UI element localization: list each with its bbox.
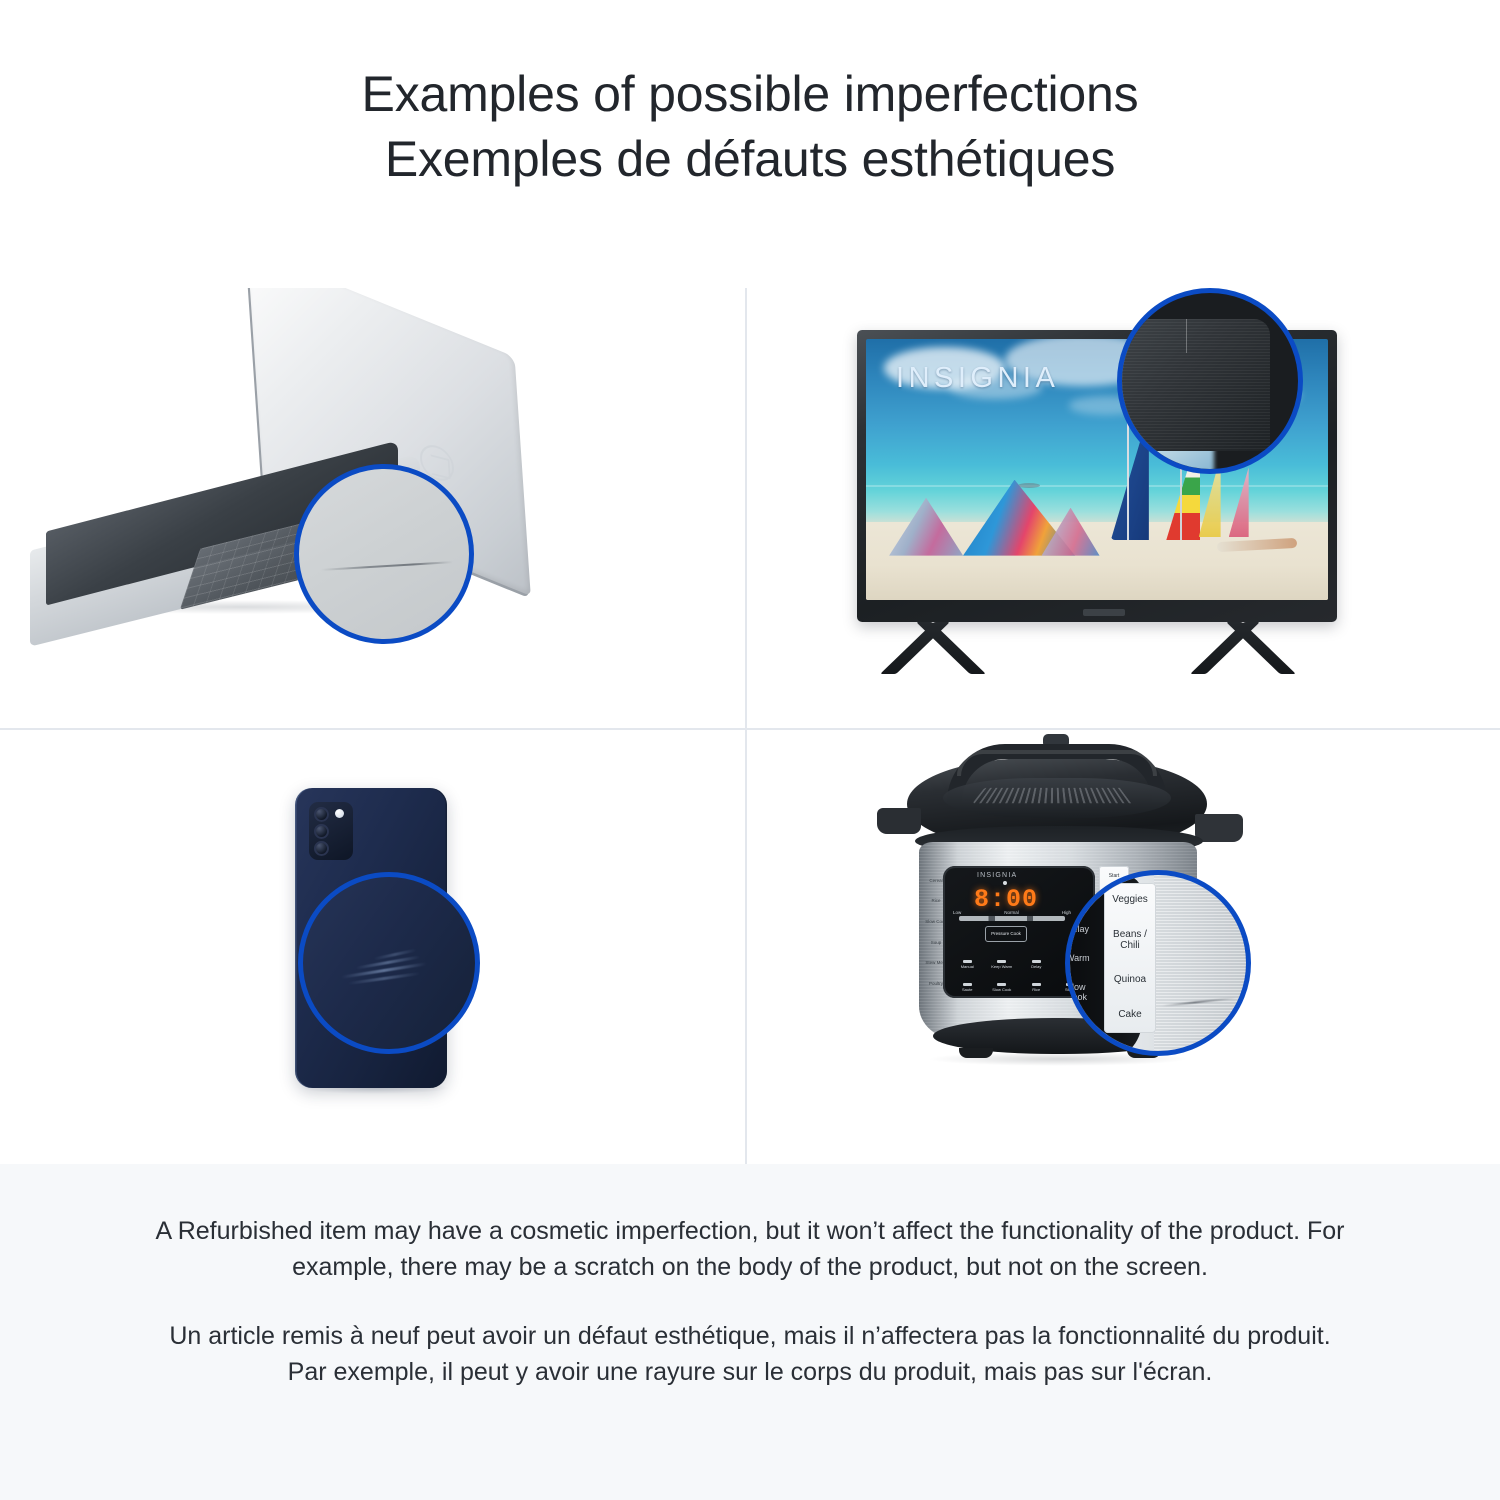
cooker-key[interactable]: Saute	[951, 971, 984, 992]
title-line-fr: Exemples de défauts esthétiques	[0, 127, 1500, 192]
tv-magnified-bezel	[1118, 319, 1270, 451]
cooker-pressure-normal: Normal	[1004, 910, 1019, 915]
cooker-magnified-left-label: Warm	[1066, 953, 1090, 963]
phone-magnifier-circle	[298, 872, 480, 1054]
cooker-brand-text: INSIGNIA	[977, 872, 1017, 879]
pressure-cooker-illustration: Cereal Rice Slow Cook Soup Stew Meat Pou…	[747, 730, 1500, 1164]
cooker-side-handle-right	[1195, 814, 1243, 842]
cooker-key[interactable]: Keep Warm	[986, 948, 1019, 969]
camera-flash-icon	[335, 809, 344, 818]
camera-lens-icon	[314, 824, 329, 839]
cooker-key-led	[997, 960, 1006, 963]
tv-front-logo-bar	[1083, 609, 1125, 616]
cooker-key[interactable]: Delay	[1020, 948, 1053, 969]
page-title: Examples of possible imperfections Exemp…	[0, 62, 1500, 192]
cooker-magnified-left-labels: Delay Warm Slow Cook	[1066, 915, 1108, 1011]
laptop-magnifier-circle	[294, 464, 474, 644]
cooker-left-label: Soup	[931, 940, 942, 945]
cooker-led-display: 8:00	[969, 886, 1043, 912]
cooker-magnified-label: Quinoa	[1114, 975, 1146, 986]
cooker-handle-highlight	[957, 750, 1157, 776]
cooker-pressure-cook-button[interactable]: Pressure Cook	[985, 926, 1027, 942]
camera-lens-icon	[314, 807, 329, 822]
smartphone-illustration	[0, 730, 745, 1164]
cooker-key-led	[963, 960, 972, 963]
distant-islet	[1018, 483, 1040, 488]
laptop-illustration	[0, 288, 745, 728]
horizon-line	[866, 485, 1328, 487]
cooker-key-label: Manual	[961, 965, 974, 969]
cooker-magnified-left-label: Delay	[1066, 924, 1089, 934]
cooker-key-label: Delay	[1031, 965, 1041, 969]
cooker-side-handle-left	[877, 808, 921, 834]
cooker-magnified-steel-grain	[1154, 875, 1251, 1056]
tv-bezel-grain	[1118, 319, 1270, 451]
cooker-key[interactable]: Rice	[1020, 971, 1053, 992]
cooker-key[interactable]: Manual	[951, 948, 984, 969]
cooker-key-led	[997, 983, 1006, 986]
laptop-scratch-mark	[321, 561, 453, 571]
footer-paragraph-fr: Un article remis à neuf peut avoir un dé…	[150, 1319, 1350, 1390]
grid-cell-laptop	[0, 288, 745, 728]
cooker-magnified-label: Veggies	[1112, 895, 1148, 906]
cooker-key[interactable]: Slow Cook	[986, 971, 1019, 992]
footer-description: A Refurbished item may have a cosmetic i…	[0, 1164, 1500, 1500]
cooker-magnified-label: Beans / Chili	[1104, 930, 1156, 951]
cooker-key-label: Slow Cook	[992, 988, 1011, 992]
cooker-left-label: Rice	[931, 898, 940, 903]
tv-bezel-seam-mark	[1186, 319, 1187, 353]
cooker-foot	[959, 1048, 993, 1058]
tv-stand-leg	[1226, 622, 1296, 674]
cooker-key-label: Rice	[1032, 988, 1040, 992]
cooker-magnified-keypad: Veggies Beans / Chili Quinoa Cake	[1104, 883, 1156, 1033]
title-line-en: Examples of possible imperfections	[362, 66, 1139, 122]
cooker-magnified-label: Cake	[1118, 1010, 1141, 1021]
tv-brand-text: INSIGNIA	[896, 362, 1059, 395]
footer-paragraph-en: A Refurbished item may have a cosmetic i…	[150, 1214, 1350, 1285]
cooker-left-label: Cereal	[929, 878, 942, 883]
camera-lens-icon	[314, 841, 329, 856]
cooker-pressure-labels: Low Normal High	[953, 910, 1071, 915]
cooker-key-label: Saute	[962, 988, 972, 992]
cooker-key-led	[1032, 983, 1041, 986]
phone-camera-module	[309, 802, 353, 860]
cooker-magnifier-circle: Delay Warm Slow Cook Veggies Beans / Chi…	[1065, 870, 1251, 1056]
cooker-key-led	[963, 983, 972, 986]
television-illustration: INSIGNIA	[747, 288, 1500, 728]
cooker-pressure-bar	[959, 916, 1065, 921]
cooker-pressure-low: Low	[953, 910, 961, 915]
cooker-magnified-left-label: Slow Cook	[1066, 982, 1108, 1002]
cooker-left-label: Poultry	[929, 981, 943, 986]
cooker-key-label: Keep Warm	[991, 965, 1012, 969]
tv-magnifier-circle	[1117, 288, 1303, 474]
cooker-key-led	[1032, 960, 1041, 963]
grid-cell-smartphone	[0, 728, 745, 1164]
header: Examples of possible imperfections Exemp…	[0, 0, 1500, 192]
grid-cell-pressure-cooker: Cereal Rice Slow Cook Soup Stew Meat Pou…	[745, 728, 1500, 1164]
infographic-page: Examples of possible imperfections Exemp…	[0, 0, 1500, 1500]
sailboat-pink-sail	[1229, 467, 1249, 537]
grid-cell-television: INSIGNIA	[745, 288, 1500, 728]
product-examples-grid: INSIGNIA	[0, 288, 1500, 1164]
tv-stand-leg	[916, 622, 986, 674]
